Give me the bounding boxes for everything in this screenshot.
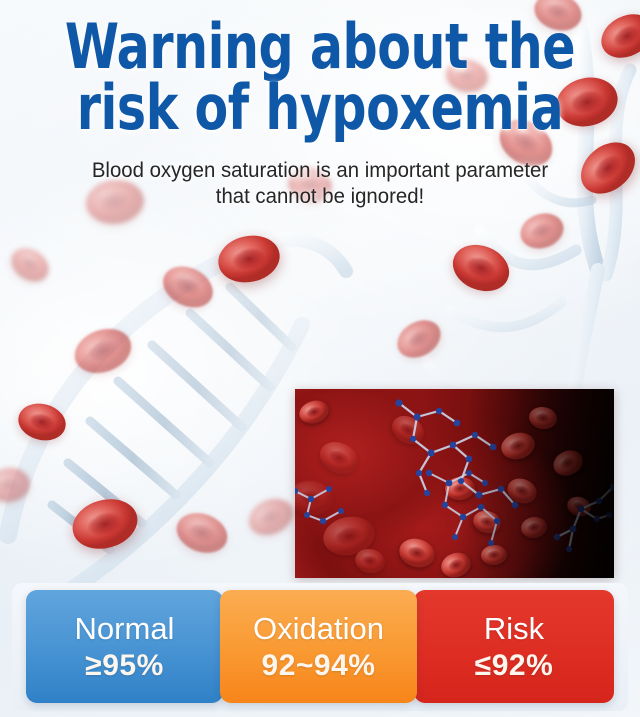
micrograph-shadow-overlay: [295, 389, 614, 578]
legend-card-risk-label: Risk: [484, 612, 544, 646]
legend-card-risk[interactable]: Risk ≤92%: [414, 590, 614, 703]
blood-micrograph-inset-image: [295, 389, 614, 578]
poster-heading-block: Warning about the risk of hypoxemia Bloo…: [0, 0, 640, 210]
legend-card-risk-value: ≤92%: [475, 650, 554, 682]
subtitle-line-2: that cannot be ignored!: [10, 184, 631, 210]
legend-card-normal-label: Normal: [75, 612, 175, 646]
title-line-1: Warning about the: [38, 16, 601, 77]
page-title: Warning about the risk of hypoxemia: [38, 0, 601, 138]
legend-card-normal-value: ≥95%: [85, 650, 164, 682]
title-line-2: risk of hypoxemia: [38, 77, 601, 138]
legend-card-oxidation-label: Oxidation: [253, 612, 384, 646]
legend-card-normal[interactable]: Normal ≥95%: [26, 590, 223, 703]
page-subtitle: Blood oxygen saturation is an important …: [10, 138, 631, 210]
subtitle-line-1: Blood oxygen saturation is an important …: [10, 158, 631, 184]
hypoxemia-warning-poster: Warning about the risk of hypoxemia Bloo…: [0, 0, 640, 717]
legend-card-oxidation-value: 92~94%: [262, 650, 376, 682]
legend-card-oxidation[interactable]: Oxidation 92~94%: [220, 590, 417, 703]
saturation-legend: Normal ≥95% Oxidation 92~94% Risk ≤92%: [0, 583, 640, 717]
